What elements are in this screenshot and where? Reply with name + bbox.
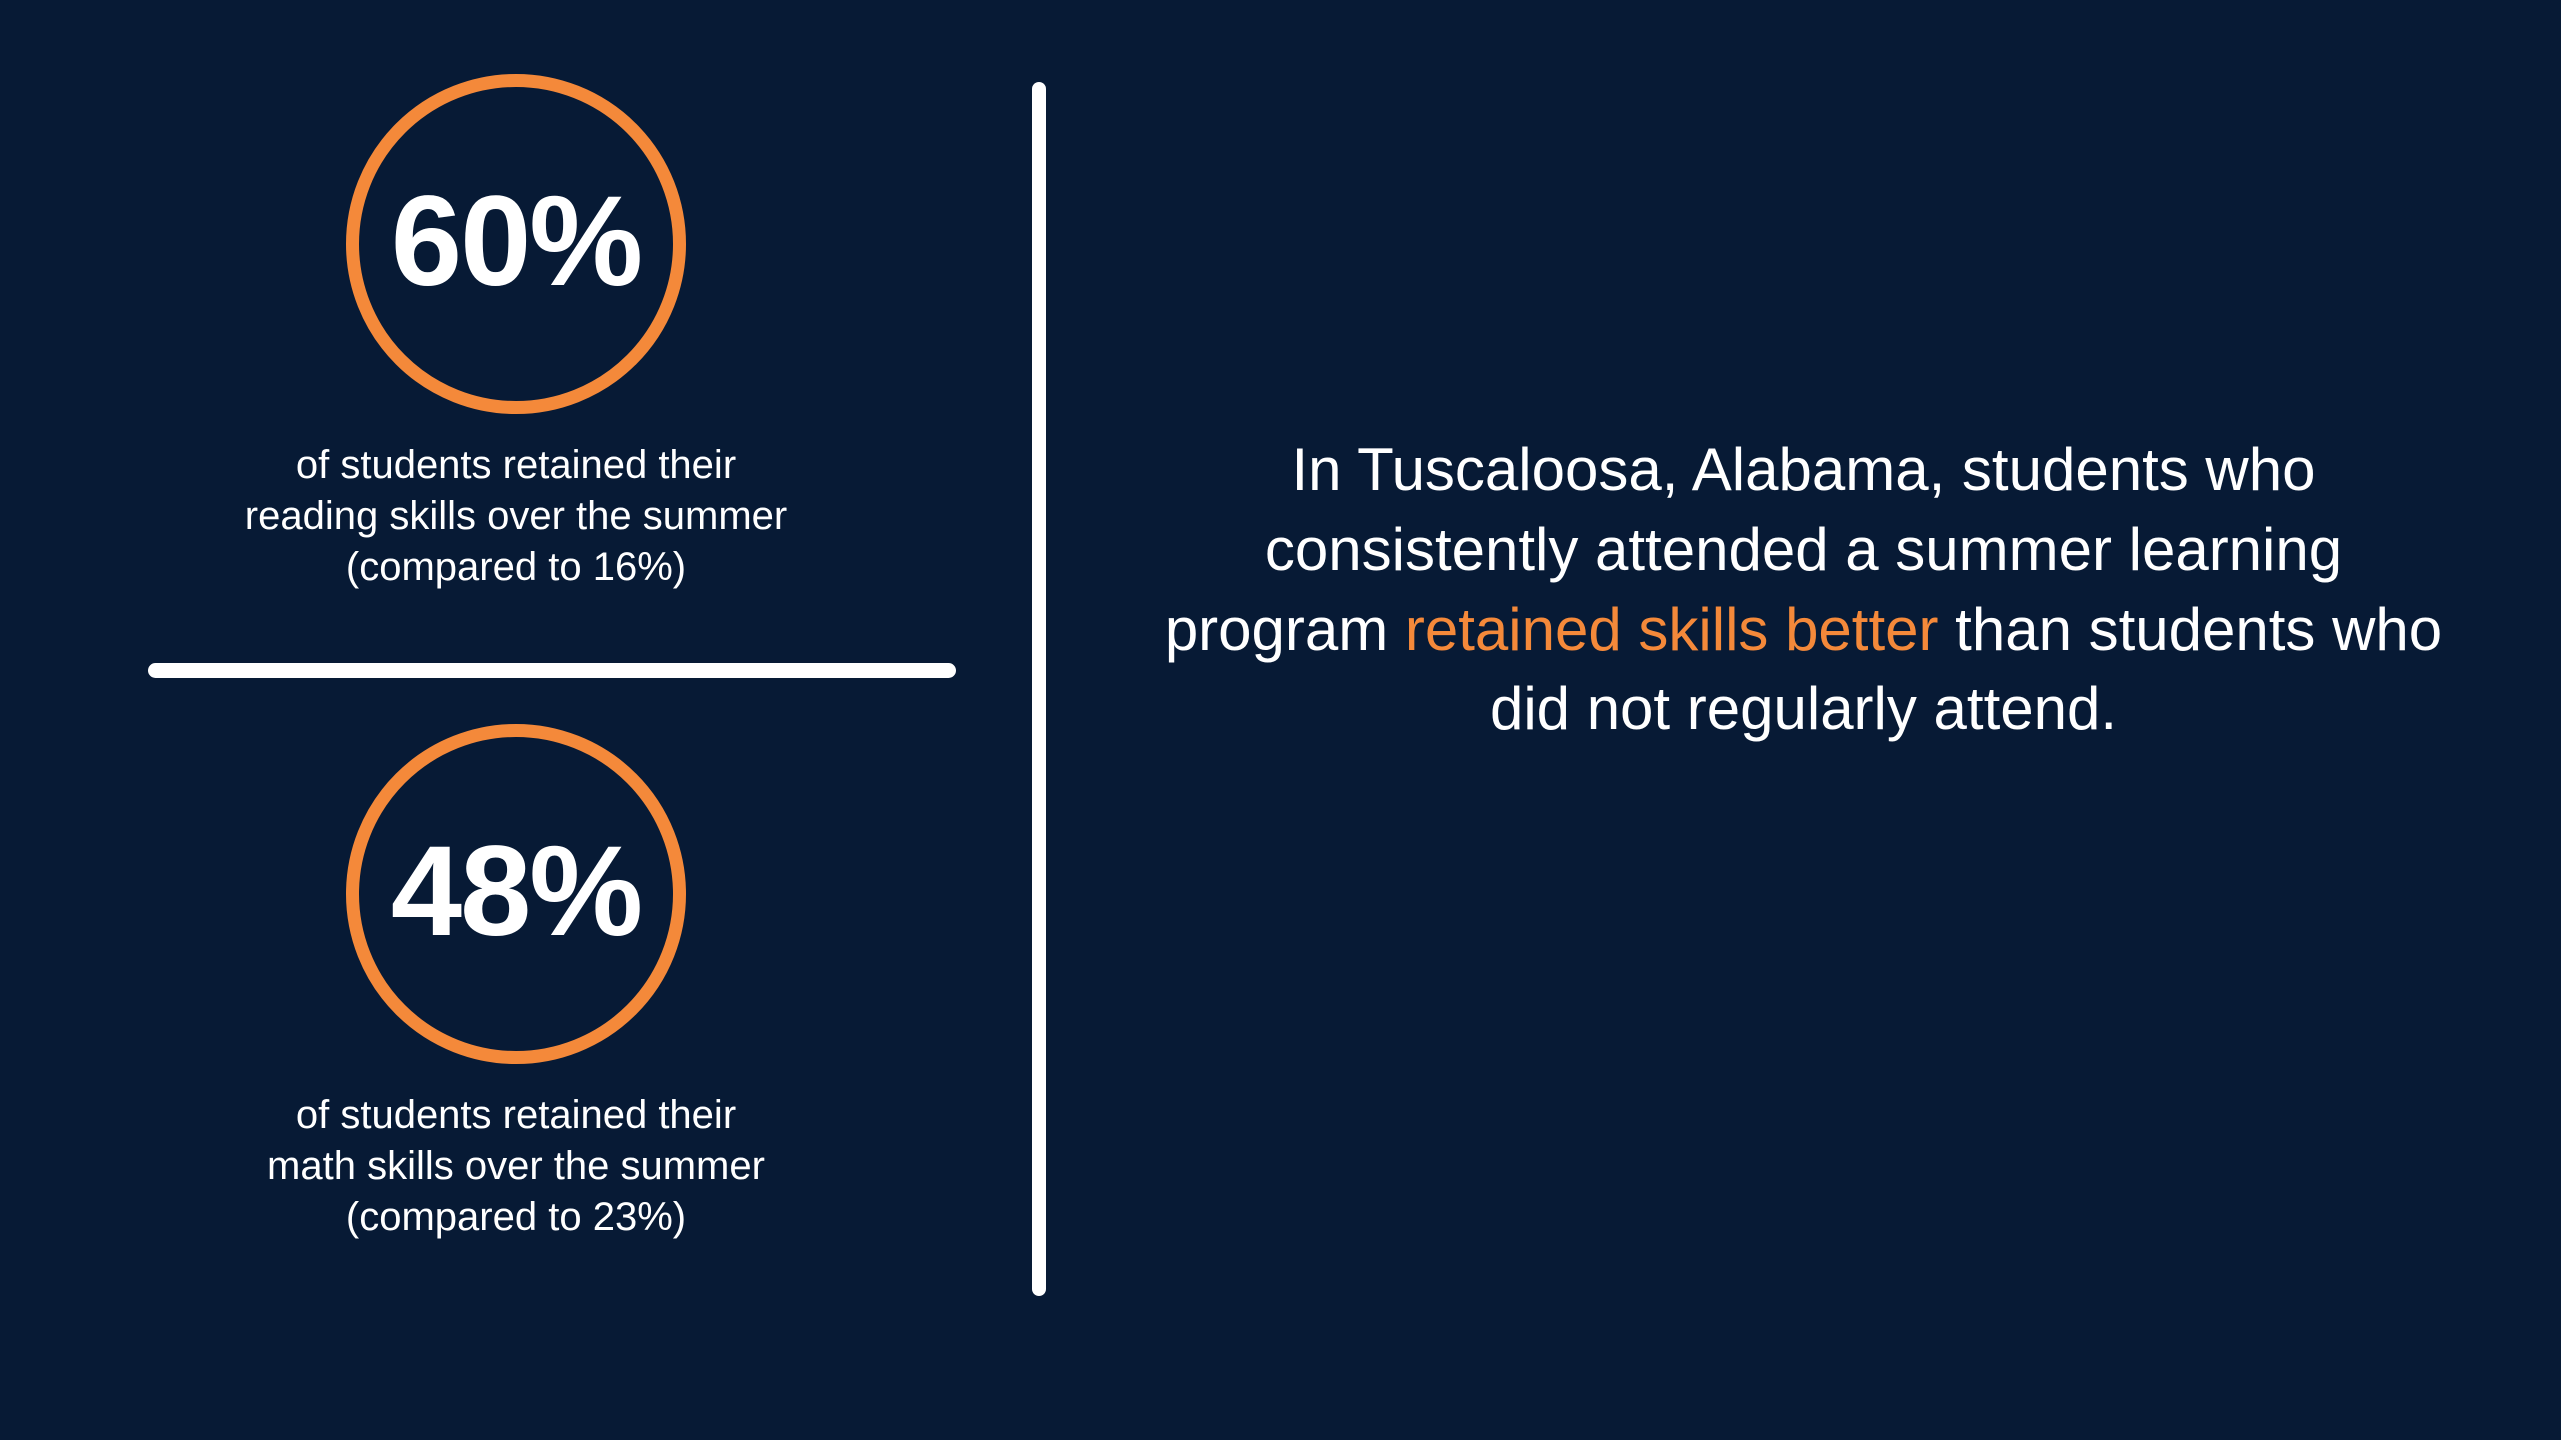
stat-block-math: 48% of students retained their math skil… [0, 724, 1032, 1244]
narrative-paragraph: In Tuscaloosa, Alabama, students who con… [1154, 430, 2454, 749]
infographic-canvas: 60% of students retained their reading s… [0, 0, 2561, 1440]
stat-caption-reading: of students retained their reading skill… [66, 440, 966, 594]
stats-column: 60% of students retained their reading s… [0, 0, 1032, 1440]
stat-block-reading: 60% of students retained their reading s… [0, 74, 1032, 594]
narrative-highlight-text: retained skills better [1405, 596, 1939, 663]
stat-value-math: 48% [391, 828, 641, 956]
vertical-divider-rule [1032, 82, 1046, 1296]
stat-value-reading: 60% [391, 178, 641, 306]
narrative-column: In Tuscaloosa, Alabama, students who con… [1046, 0, 2561, 1440]
stat-caption-math: of students retained their math skills o… [66, 1090, 966, 1244]
percentage-ring-reading: 60% [346, 74, 686, 414]
horizontal-divider-rule [148, 663, 956, 678]
percentage-ring-math: 48% [346, 724, 686, 1064]
